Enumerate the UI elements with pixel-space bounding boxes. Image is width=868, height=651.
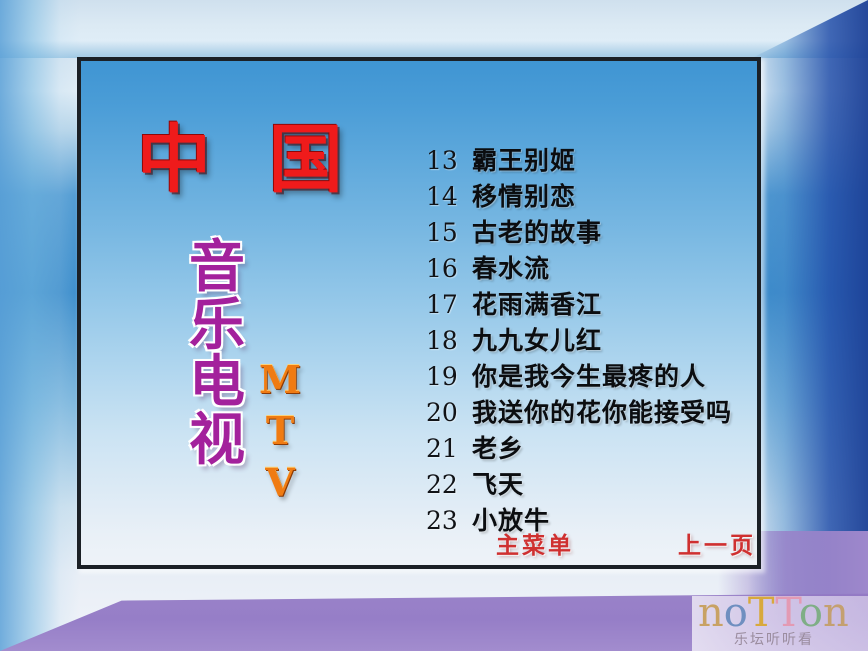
menu-panel: 中 国 音 乐 电 视 M T V 13 霸王别姬 14 移情别恋 15 古老的…	[77, 57, 761, 569]
song-number: 14	[426, 182, 472, 211]
song-list-item[interactable]: 13 霸王别姬	[426, 141, 756, 177]
watermark-subtitle: 乐坛听听看	[734, 629, 814, 649]
brand-char-dian: 电	[174, 354, 260, 412]
song-title: 花雨满香江	[472, 285, 602, 321]
brand-title-zhongguo: 中 国	[137, 123, 359, 197]
brand-char-yin: 音	[174, 239, 260, 297]
song-title: 霸王别姬	[472, 141, 576, 177]
previous-page-button[interactable]: 上一页	[678, 526, 756, 560]
song-title: 老乡	[472, 429, 524, 465]
song-title: 你是我今生最疼的人	[472, 357, 706, 393]
watermark-letter-n1: n	[698, 596, 724, 636]
song-list-item[interactable]: 19 你是我今生最疼的人	[426, 357, 756, 393]
brand-char-shi: 视	[174, 412, 260, 470]
mtv-logo-vertical: M T V	[259, 354, 301, 508]
song-number: 18	[426, 326, 472, 355]
song-number: 19	[426, 362, 472, 391]
song-number: 23	[426, 506, 472, 535]
song-list-item[interactable]: 14 移情别恋	[426, 177, 756, 213]
song-list-item[interactable]: 20 我送你的花你能接受吗	[426, 393, 756, 429]
song-list-item[interactable]: 18 九九女儿红	[426, 321, 756, 357]
bevel-left-band	[0, 0, 80, 651]
brand-char-yue: 乐	[174, 297, 260, 355]
song-title: 九九女儿红	[472, 321, 602, 357]
song-number: 15	[426, 218, 472, 247]
mtv-letter-t: T	[259, 405, 301, 456]
song-title: 我送你的花你能接受吗	[472, 393, 732, 429]
song-list-item[interactable]: 17 花雨满香江	[426, 285, 756, 321]
song-title: 春水流	[472, 249, 550, 285]
song-list-item[interactable]: 16 春水流	[426, 249, 756, 285]
song-number: 17	[426, 290, 472, 319]
brand-title-yinyuedianshi: 音 乐 电 视	[174, 239, 260, 470]
song-list-item[interactable]: 21 老乡	[426, 429, 756, 465]
song-list-item[interactable]: 22 飞天	[426, 465, 756, 501]
watermark-notton: noTTon 乐坛听听看	[692, 596, 868, 651]
watermark-letter-n2: n	[823, 596, 849, 636]
mtv-letter-v: V	[259, 457, 301, 508]
bevel-top-band	[0, 0, 868, 58]
song-number: 13	[426, 146, 472, 175]
bevel-right-band	[748, 0, 868, 600]
song-list: 13 霸王别姬 14 移情别恋 15 古老的故事 16 春水流 17 花雨满香江…	[426, 141, 756, 537]
song-title: 古老的故事	[472, 213, 602, 249]
song-number: 21	[426, 434, 472, 463]
song-number: 22	[426, 470, 472, 499]
mtv-letter-m: M	[259, 354, 301, 405]
main-menu-button[interactable]: 主菜单	[496, 526, 574, 560]
song-title: 移情别恋	[472, 177, 576, 213]
song-number: 16	[426, 254, 472, 283]
song-title: 飞天	[472, 465, 524, 501]
dvd-menu-screen: 中 国 音 乐 电 视 M T V 13 霸王别姬 14 移情别恋 15 古老的…	[0, 0, 868, 651]
footer-navigation: 主菜单 上一页	[496, 526, 756, 560]
song-number: 20	[426, 398, 472, 427]
song-list-item[interactable]: 15 古老的故事	[426, 213, 756, 249]
